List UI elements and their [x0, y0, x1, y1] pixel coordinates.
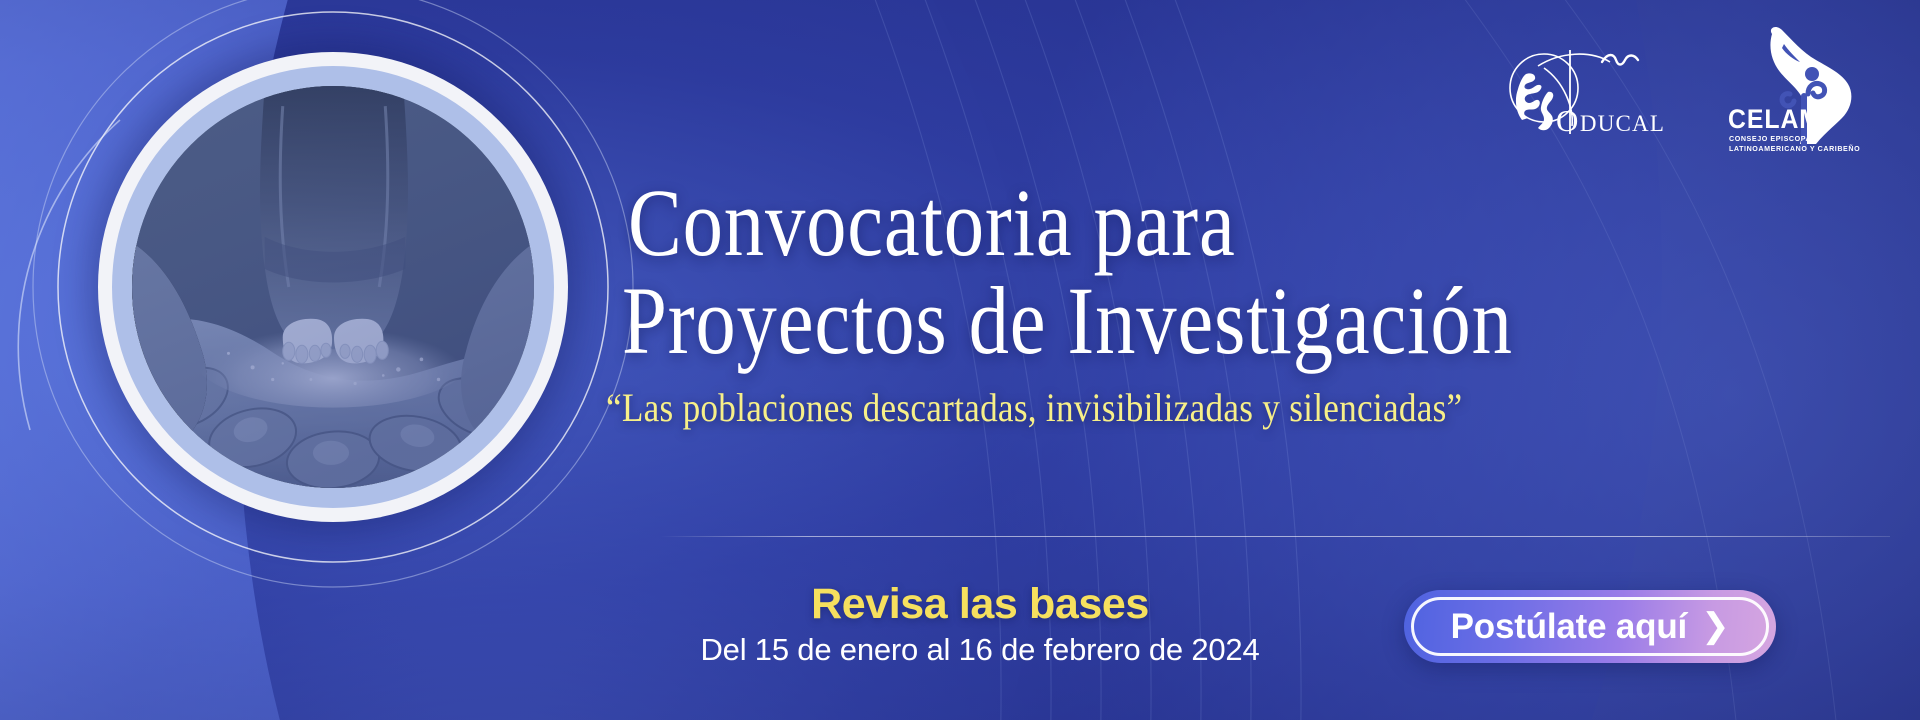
logo-group: ODUCAL CELAM CONSEJO EPISCOPAL LATINOAME…: [1498, 22, 1874, 152]
headline-quote: “Las poblaciones descartadas, invisibili…: [606, 384, 1745, 431]
postulate-aqui-button[interactable]: Postúlate aquí ❯: [1404, 590, 1776, 663]
cta-wrapper: Postúlate aquí ❯: [1404, 590, 1776, 663]
dates-label: Del 15 de enero al 16 de febrero de 2024: [660, 633, 1300, 667]
cta-label-group: Postúlate aquí ❯: [1451, 607, 1730, 647]
footer-info: Revisa las bases Del 15 de enero al 16 d…: [660, 582, 1300, 667]
celam-wordmark: CELAM: [1728, 106, 1821, 133]
chevron-right-icon: ❯: [1701, 609, 1729, 643]
cta-label: Postúlate aquí: [1451, 607, 1687, 647]
headline-line-2: Proyectos de Investigación: [622, 276, 1696, 366]
headline-line-1: Convocatoria para: [628, 178, 1696, 268]
oducal-wordmark-rest: DUCAL: [1580, 111, 1665, 136]
oducal-wordmark-o: O: [1556, 103, 1580, 138]
oducal-logo[interactable]: ODUCAL: [1498, 22, 1678, 142]
celam-logo[interactable]: CELAM CONSEJO EPISCOPAL LATINOAMERICANO …: [1724, 22, 1874, 152]
photo-medallion: [98, 52, 568, 522]
oducal-wordmark: ODUCAL: [1556, 105, 1665, 136]
headline-block: Convocatoria para Proyectos de Investiga…: [600, 178, 1900, 431]
celam-subtitle-line2: LATINOAMERICANO Y CARIBEÑO: [1729, 144, 1860, 154]
celam-subtitle: CONSEJO EPISCOPAL LATINOAMERICANO Y CARI…: [1729, 134, 1860, 154]
hands-photo: [132, 86, 534, 488]
convocatoria-banner: ODUCAL CELAM CONSEJO EPISCOPAL LATINOAME…: [0, 0, 1920, 720]
section-divider: [660, 536, 1890, 537]
bases-label: Revisa las bases: [660, 582, 1300, 627]
celam-subtitle-line1: CONSEJO EPISCOPAL: [1729, 134, 1860, 144]
